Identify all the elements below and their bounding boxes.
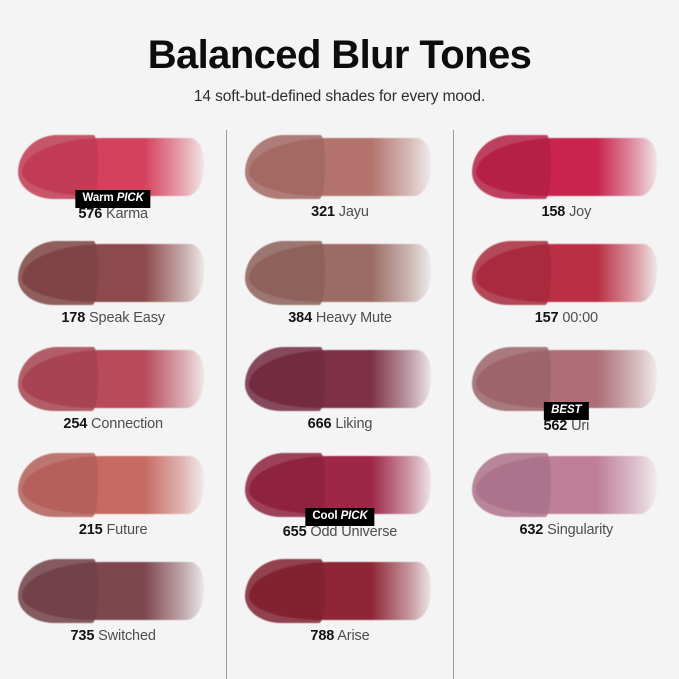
swatch-stroke-wrap xyxy=(22,554,204,624)
swatch-label: 562 Uri xyxy=(454,418,679,434)
swatch-stroke-wrap xyxy=(22,342,204,412)
lipstick-swatch-stroke xyxy=(249,562,430,620)
swatch-name: Uri xyxy=(571,418,589,434)
lipstick-swatch-stroke xyxy=(476,350,657,408)
lipstick-swatch-stroke xyxy=(249,456,430,514)
swatch-stroke-wrap xyxy=(22,448,204,518)
swatch-code: 655 xyxy=(283,524,307,540)
swatch-name: Jayu xyxy=(339,204,369,220)
lipstick-swatch-stroke xyxy=(22,138,204,196)
swatch-stroke-wrap xyxy=(476,130,657,200)
badge-emphasis: PICK xyxy=(341,510,368,522)
swatch-item[interactable]: 158 Joy xyxy=(454,130,679,236)
swatch-name: Karma xyxy=(106,206,148,222)
swatch-item[interactable]: 735 Switched xyxy=(0,554,226,660)
swatch-item[interactable]: 384 Heavy Mute xyxy=(227,236,452,342)
lipstick-swatch-stroke xyxy=(476,244,657,302)
swatch-stroke-wrap xyxy=(249,554,430,624)
swatch-grid: Warm PICK576 Karma178 Speak Easy254 Conn… xyxy=(0,130,679,679)
lipstick-swatch-stroke xyxy=(22,350,204,408)
swatch-code: 632 xyxy=(519,522,543,538)
lipstick-swatch-stroke xyxy=(22,456,204,514)
swatch-chart-page: Balanced Blur Tones 14 soft-but-defined … xyxy=(0,0,679,679)
swatch-name: 00:00 xyxy=(562,310,598,326)
swatch-item[interactable]: 254 Connection xyxy=(0,342,226,448)
swatch-item[interactable]: BEST562 Uri xyxy=(454,342,679,448)
swatch-code: 562 xyxy=(543,418,567,434)
swatch-name: Connection xyxy=(91,416,163,432)
swatch-name: Speak Easy xyxy=(89,310,165,326)
page-header: Balanced Blur Tones 14 soft-but-defined … xyxy=(0,0,679,106)
swatch-label: 735 Switched xyxy=(0,628,226,644)
swatch-label: 788 Arise xyxy=(227,628,452,644)
swatch-item[interactable]: 178 Speak Easy xyxy=(0,236,226,342)
swatch-label: 158 Joy xyxy=(454,204,679,220)
swatch-code: 158 xyxy=(541,204,565,220)
swatch-stroke-wrap xyxy=(476,448,657,518)
swatch-code: 157 xyxy=(535,310,559,326)
swatch-code: 576 xyxy=(78,206,102,222)
swatch-code: 321 xyxy=(311,204,335,220)
lipstick-swatch-stroke xyxy=(249,350,430,408)
swatch-column: Warm PICK576 Karma178 Speak Easy254 Conn… xyxy=(0,130,226,679)
swatch-code: 384 xyxy=(288,310,312,326)
badge-emphasis: PICK xyxy=(117,192,144,204)
swatch-name: Singularity xyxy=(547,522,613,538)
swatch-name: Arise xyxy=(337,628,369,644)
swatch-label: 655 Odd Universe xyxy=(227,524,452,540)
badge-text: Warm xyxy=(83,192,114,204)
swatch-stroke-wrap xyxy=(476,236,657,306)
swatch-badge: BEST xyxy=(544,402,588,420)
page-title: Balanced Blur Tones xyxy=(0,34,679,76)
swatch-name: Odd Universe xyxy=(310,524,397,540)
swatch-item[interactable]: 215 Future xyxy=(0,448,226,554)
swatch-item[interactable]: 157 00:00 xyxy=(454,236,679,342)
swatch-stroke-wrap xyxy=(22,236,204,306)
lipstick-swatch-stroke xyxy=(476,456,657,514)
badge-emphasis: BEST xyxy=(551,404,581,416)
swatch-code: 254 xyxy=(63,416,87,432)
swatch-label: 157 00:00 xyxy=(454,310,679,326)
swatch-label: 632 Singularity xyxy=(454,522,679,538)
swatch-badge: Warm PICK xyxy=(76,190,151,208)
swatch-name: Heavy Mute xyxy=(316,310,392,326)
swatch-column: 321 Jayu384 Heavy Mute666 LikingCool PIC… xyxy=(226,130,452,679)
swatch-name: Future xyxy=(106,522,147,538)
lipstick-swatch-stroke xyxy=(476,138,657,196)
swatch-code: 735 xyxy=(71,628,95,644)
swatch-item[interactable]: Warm PICK576 Karma xyxy=(0,130,226,236)
badge-text: Cool xyxy=(312,510,337,522)
lipstick-swatch-stroke xyxy=(22,244,204,302)
swatch-name: Liking xyxy=(335,416,372,432)
swatch-stroke-wrap xyxy=(249,130,430,200)
swatch-label: 321 Jayu xyxy=(227,204,452,220)
swatch-item[interactable]: 666 Liking xyxy=(227,342,452,448)
swatch-label: 666 Liking xyxy=(227,416,452,432)
swatch-item[interactable]: Cool PICK655 Odd Universe xyxy=(227,448,452,554)
swatch-code: 178 xyxy=(61,310,85,326)
swatch-badge: Cool PICK xyxy=(305,508,374,526)
swatch-name: Switched xyxy=(98,628,156,644)
page-subtitle: 14 soft-but-defined shades for every moo… xyxy=(0,88,679,106)
swatch-code: 788 xyxy=(310,628,334,644)
swatch-item[interactable]: 788 Arise xyxy=(227,554,452,660)
lipstick-swatch-stroke xyxy=(22,562,204,620)
swatch-label: 254 Connection xyxy=(0,416,226,432)
swatch-code: 215 xyxy=(79,522,103,538)
lipstick-swatch-stroke xyxy=(249,138,430,196)
swatch-stroke-wrap xyxy=(249,236,430,306)
swatch-label: 384 Heavy Mute xyxy=(227,310,452,326)
swatch-label: 215 Future xyxy=(0,522,226,538)
swatch-column: 158 Joy157 00:00BEST562 Uri632 Singulari… xyxy=(453,130,679,679)
lipstick-swatch-stroke xyxy=(249,244,430,302)
swatch-name: Joy xyxy=(569,204,591,220)
swatch-code: 666 xyxy=(308,416,332,432)
swatch-item[interactable]: 321 Jayu xyxy=(227,130,452,236)
swatch-label: 178 Speak Easy xyxy=(0,310,226,326)
swatch-stroke-wrap xyxy=(249,342,430,412)
swatch-item[interactable]: 632 Singularity xyxy=(454,448,679,554)
swatch-label: 576 Karma xyxy=(0,206,226,222)
